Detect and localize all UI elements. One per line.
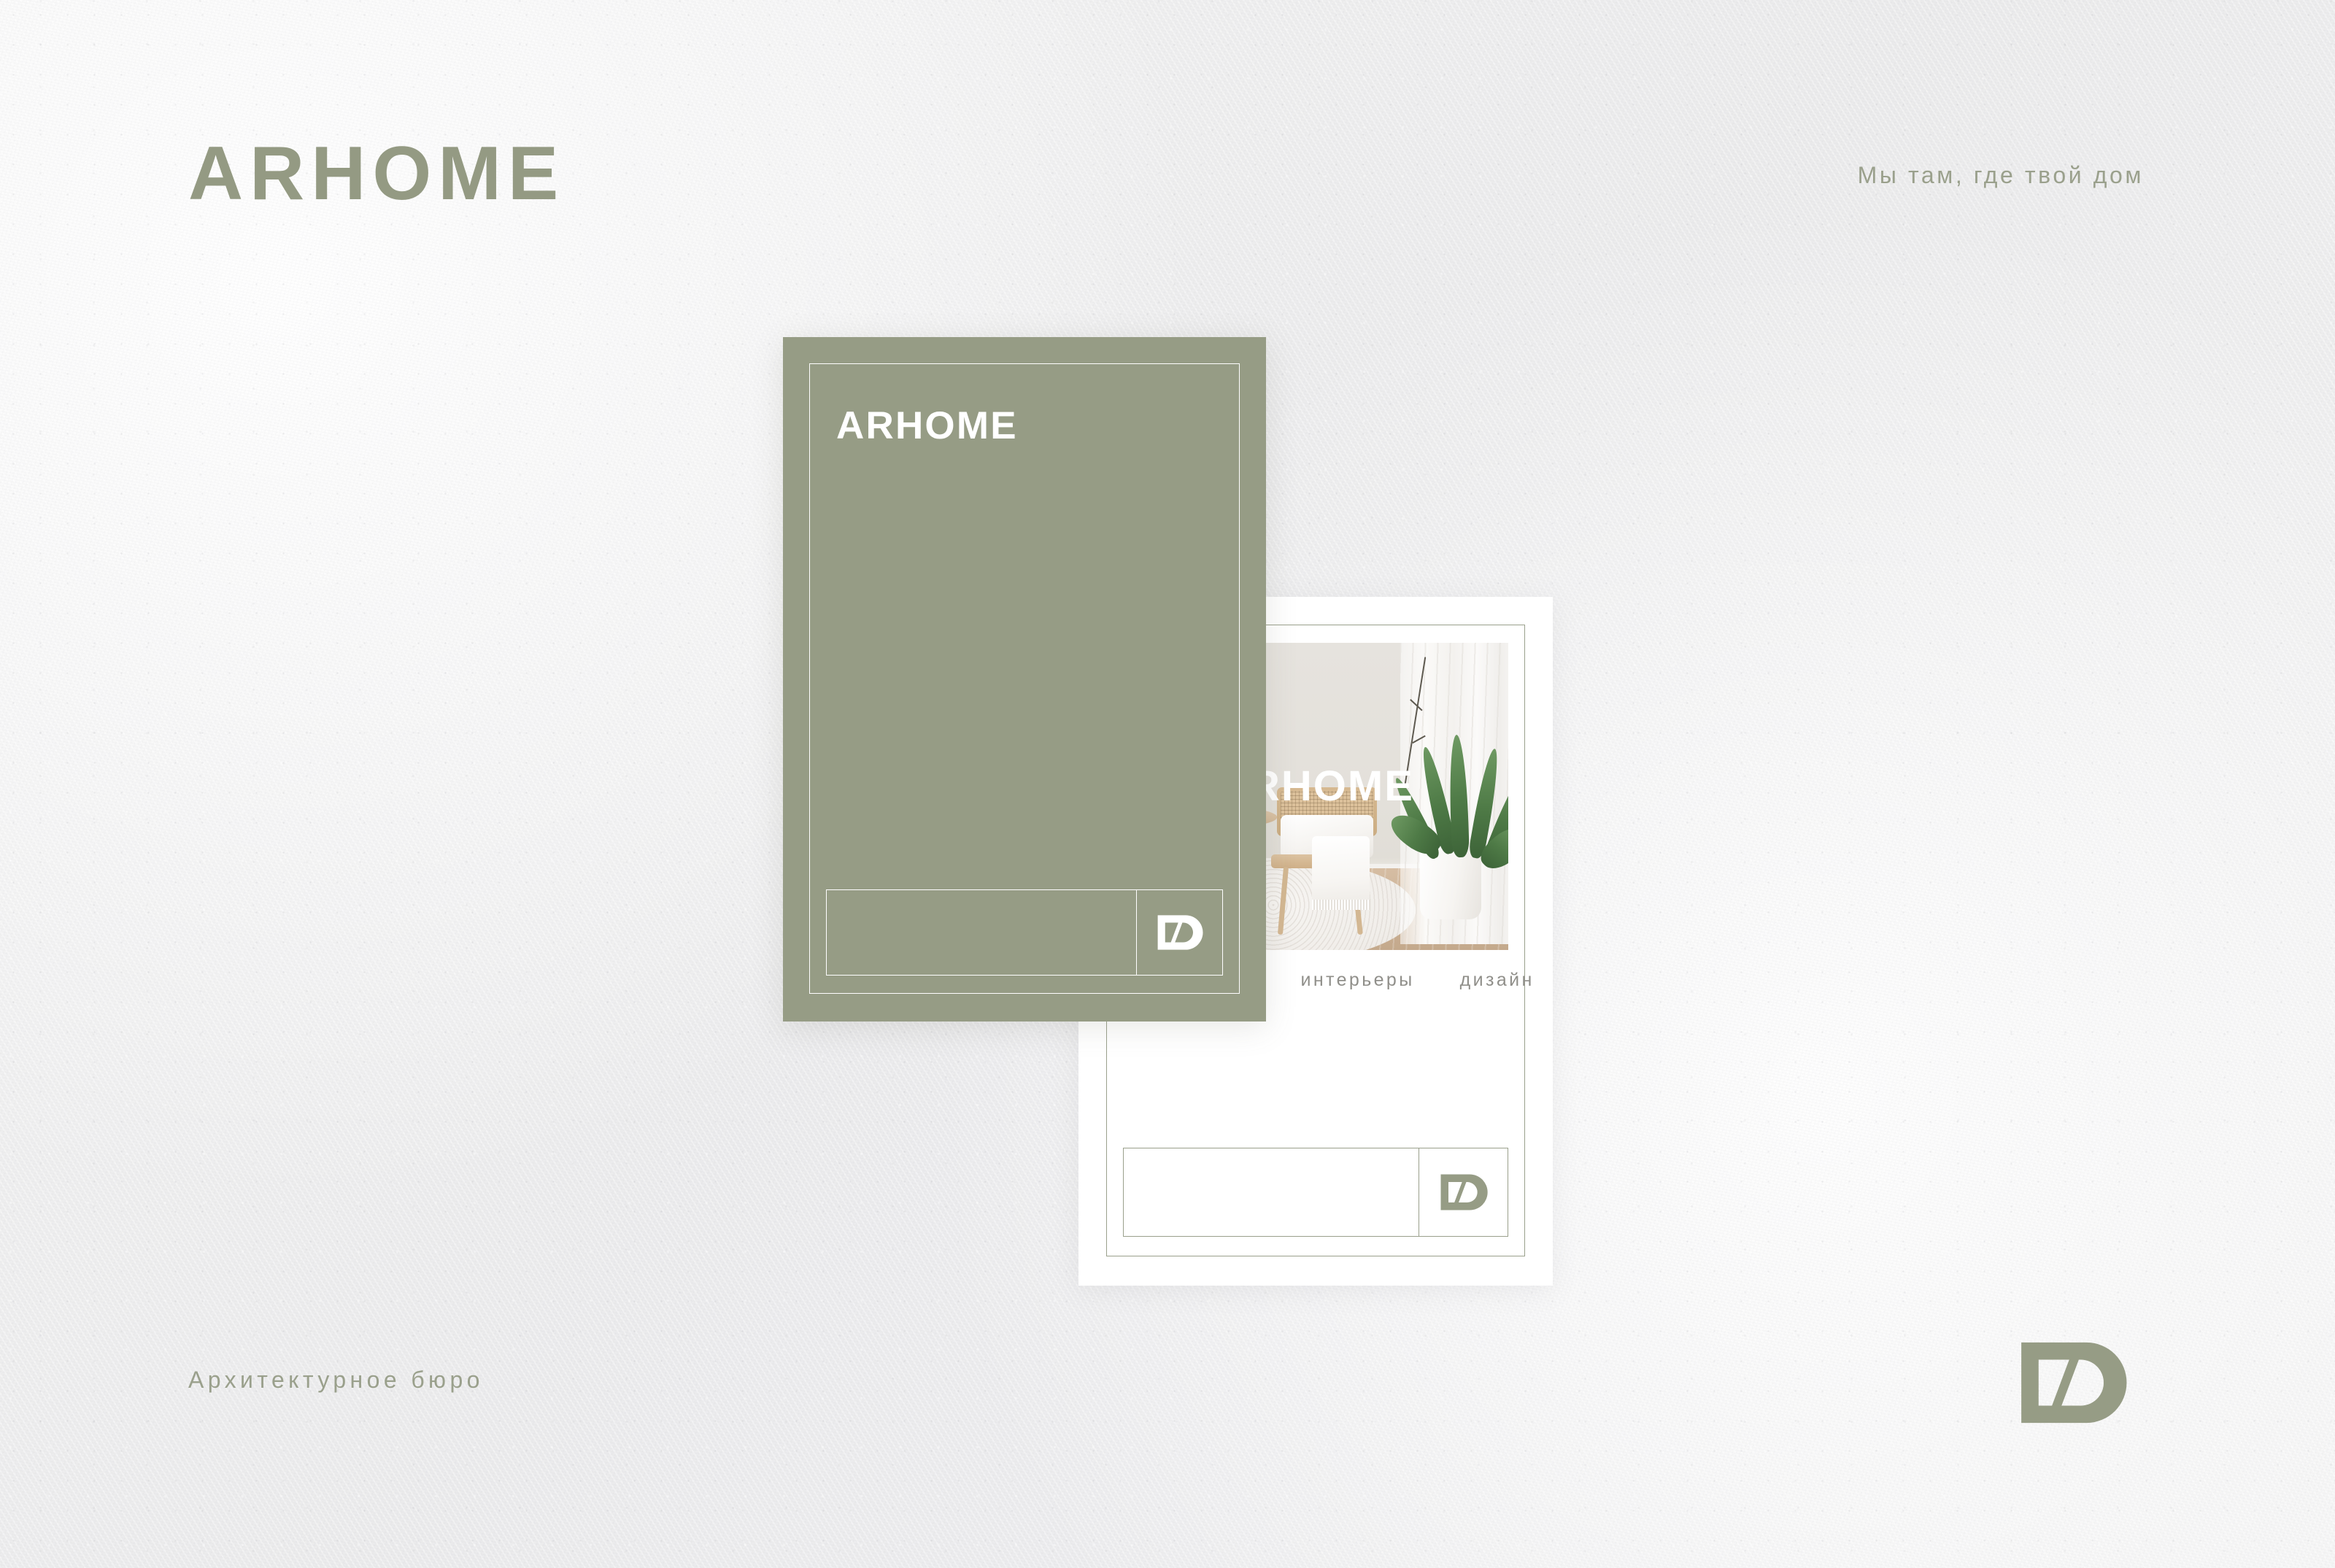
green-card-wordmark: ARHOME: [836, 406, 1018, 445]
green-card-footer-band: [826, 889, 1223, 976]
footer-label: Архитектурное бюро: [188, 1367, 484, 1394]
white-card-footer-blank-cell: [1124, 1148, 1419, 1236]
green-card-monogram-cell: [1136, 890, 1222, 975]
white-card-footer-band: [1123, 1148, 1508, 1237]
brand-wordmark: ARHOME: [188, 136, 565, 212]
dd-monogram-icon: [2015, 1337, 2131, 1429]
scene-throw-blanket: [1312, 836, 1370, 910]
service-item-interiors: интерьеры: [1300, 970, 1414, 991]
green-brochure-card: ARHOME: [783, 337, 1266, 1021]
white-card-monogram-cell: [1419, 1148, 1508, 1236]
dd-monogram-icon: [1438, 1172, 1489, 1213]
green-card-footer-blank-cell: [827, 890, 1136, 975]
green-card-inner-border: ARHOME: [809, 363, 1240, 994]
brand-tagline: Мы там, где твой дом: [1858, 162, 2144, 189]
presentation-slide: ARHOME Мы там, где твой дом: [0, 0, 2335, 1568]
dd-monogram-icon: [1155, 913, 1205, 952]
service-item-design: дизайн: [1460, 970, 1535, 991]
